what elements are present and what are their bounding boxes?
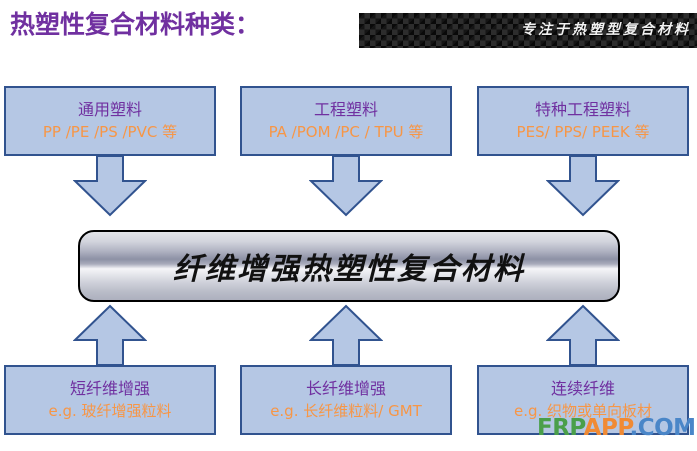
site-watermark: FRPAPP.COM [537,415,696,441]
category-title: 通用塑料 [78,99,142,121]
category-title: 连续纤维 [551,378,615,400]
brand-banner: 专注于热塑型复合材料 [359,13,697,48]
category-box-long-fiber[interactable]: 长纤维增强 e.g. 长纤维粒料/ GMT [240,365,452,435]
up-arrow-icon [73,304,147,366]
category-subtitle: e.g. 玻纤增强粒料 [48,400,171,422]
category-box-special-engineering-plastics[interactable]: 特种工程塑料 PES/ PPS/ PEEK 等 [477,86,689,156]
category-subtitle: PA /POM /PC / TPU 等 [269,121,424,143]
center-box-label: 纤维增强热塑性复合材料 [173,244,525,288]
category-title: 长纤维增强 [306,378,386,400]
category-subtitle: e.g. 长纤维粒料/ GMT [270,400,422,422]
page-title: 热塑性复合材料种类： [10,8,260,42]
watermark-part-com: .COM [629,415,695,441]
watermark-part-frp: FRP [537,415,584,441]
down-arrow-icon [546,155,620,217]
category-box-short-fiber[interactable]: 短纤维增强 e.g. 玻纤增强粒料 [4,365,216,435]
brand-banner-text: 专注于热塑型复合材料 [521,13,691,48]
category-subtitle: PES/ PPS/ PEEK 等 [517,121,650,143]
up-arrow-icon [546,304,620,366]
category-box-engineering-plastics[interactable]: 工程塑料 PA /POM /PC / TPU 等 [240,86,452,156]
down-arrow-icon [309,155,383,217]
category-title: 特种工程塑料 [535,99,631,121]
category-title: 工程塑料 [314,99,378,121]
category-box-general-plastics[interactable]: 通用塑料 PP /PE /PS /PVC 等 [4,86,216,156]
center-result-box[interactable]: 纤维增强热塑性复合材料 [78,230,620,302]
watermark-part-app: APP [584,415,630,441]
category-title: 短纤维增强 [70,378,150,400]
down-arrow-icon [73,155,147,217]
category-subtitle: PP /PE /PS /PVC 等 [43,121,177,143]
up-arrow-icon [309,304,383,366]
